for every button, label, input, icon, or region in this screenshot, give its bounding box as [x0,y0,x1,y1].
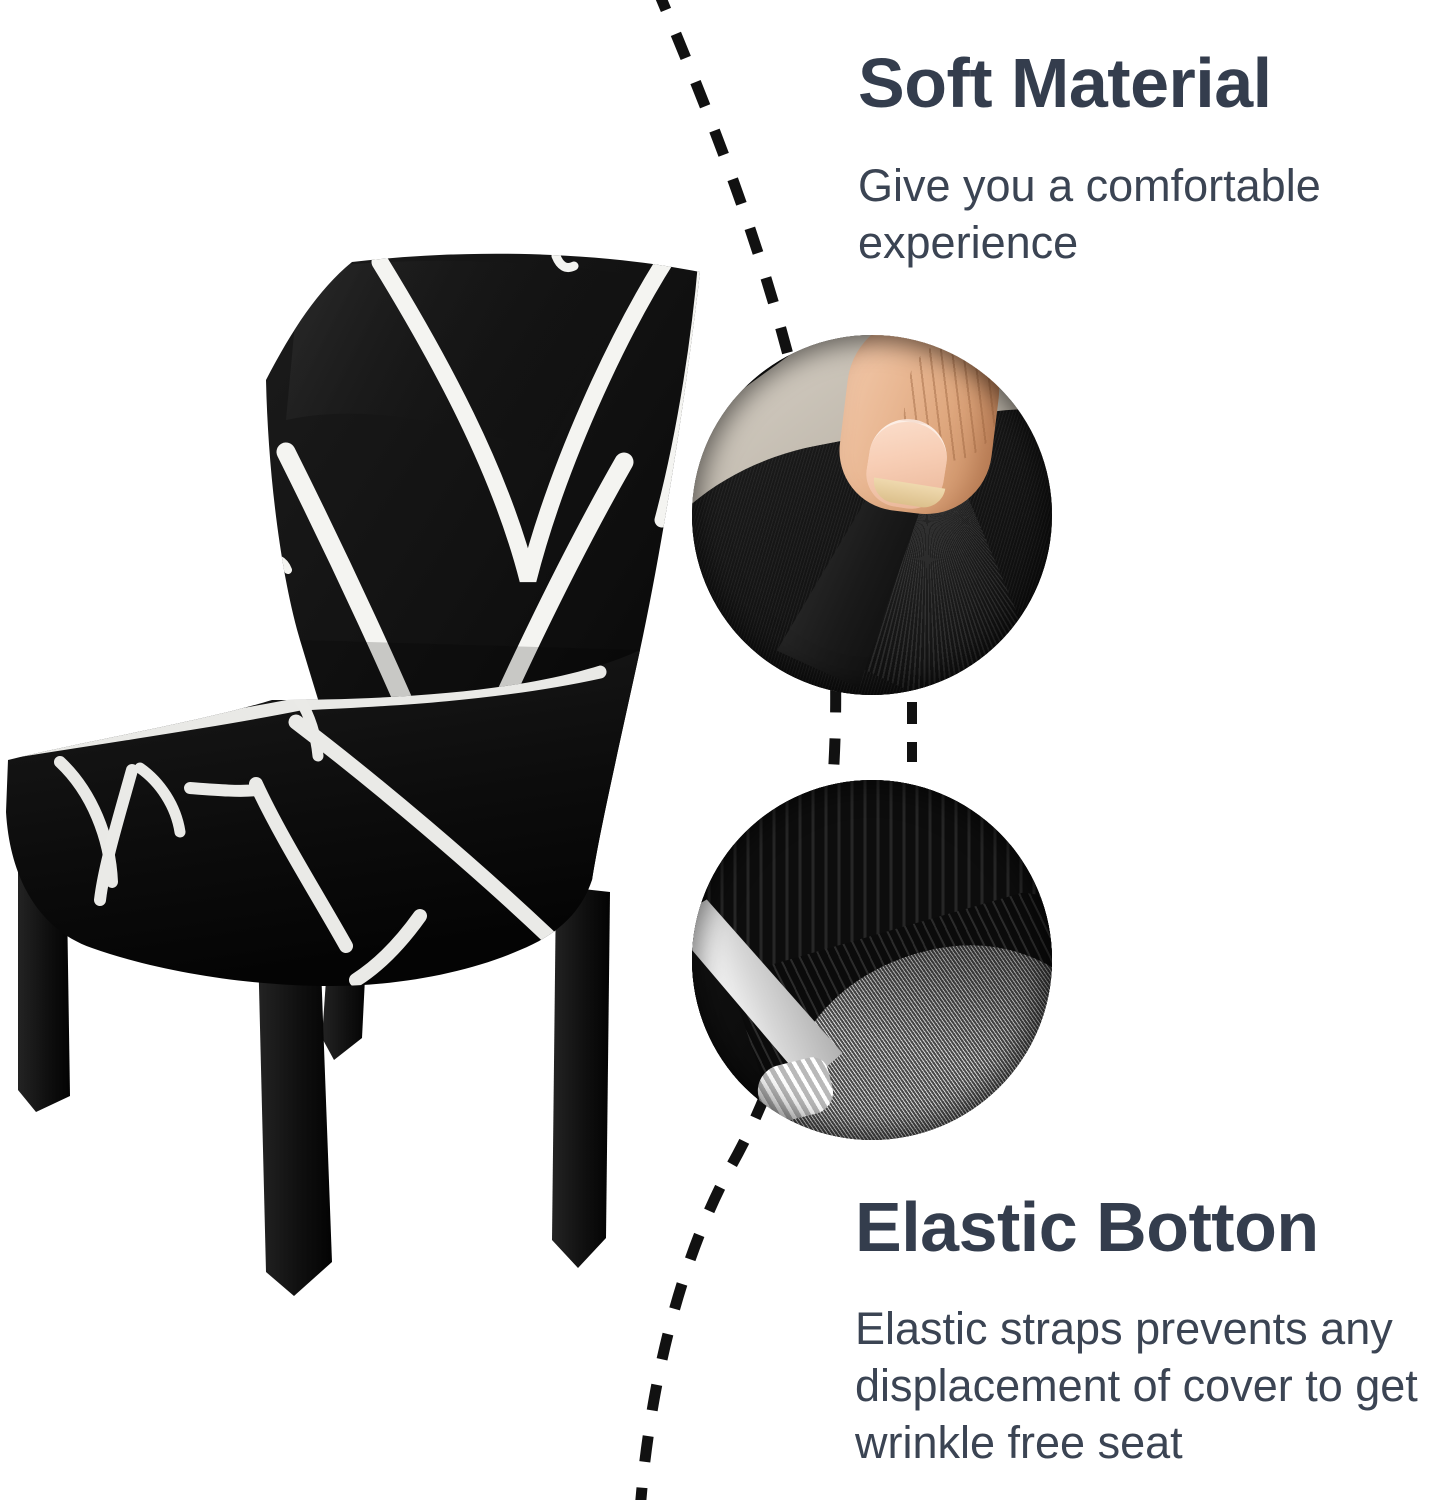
soft-material-photo-inset [692,335,1052,695]
elastic-botton-description: Elastic straps prevents any displacement… [855,1300,1436,1471]
chair-leg-front-right [552,886,610,1268]
soft-material-title: Soft Material [858,48,1272,118]
infographic-canvas: Soft Material Give you a comfortable exp… [0,0,1436,1500]
elastic-botton-title: Elastic Botton [855,1192,1319,1262]
chair-leg-front-left [258,940,332,1296]
soft-material-description: Give you a comfortable experience [858,157,1436,271]
chair-seat-cover [6,650,640,986]
dashed-arc-divider [640,0,836,1500]
elastic-botton-photo-inset [692,780,1052,1140]
